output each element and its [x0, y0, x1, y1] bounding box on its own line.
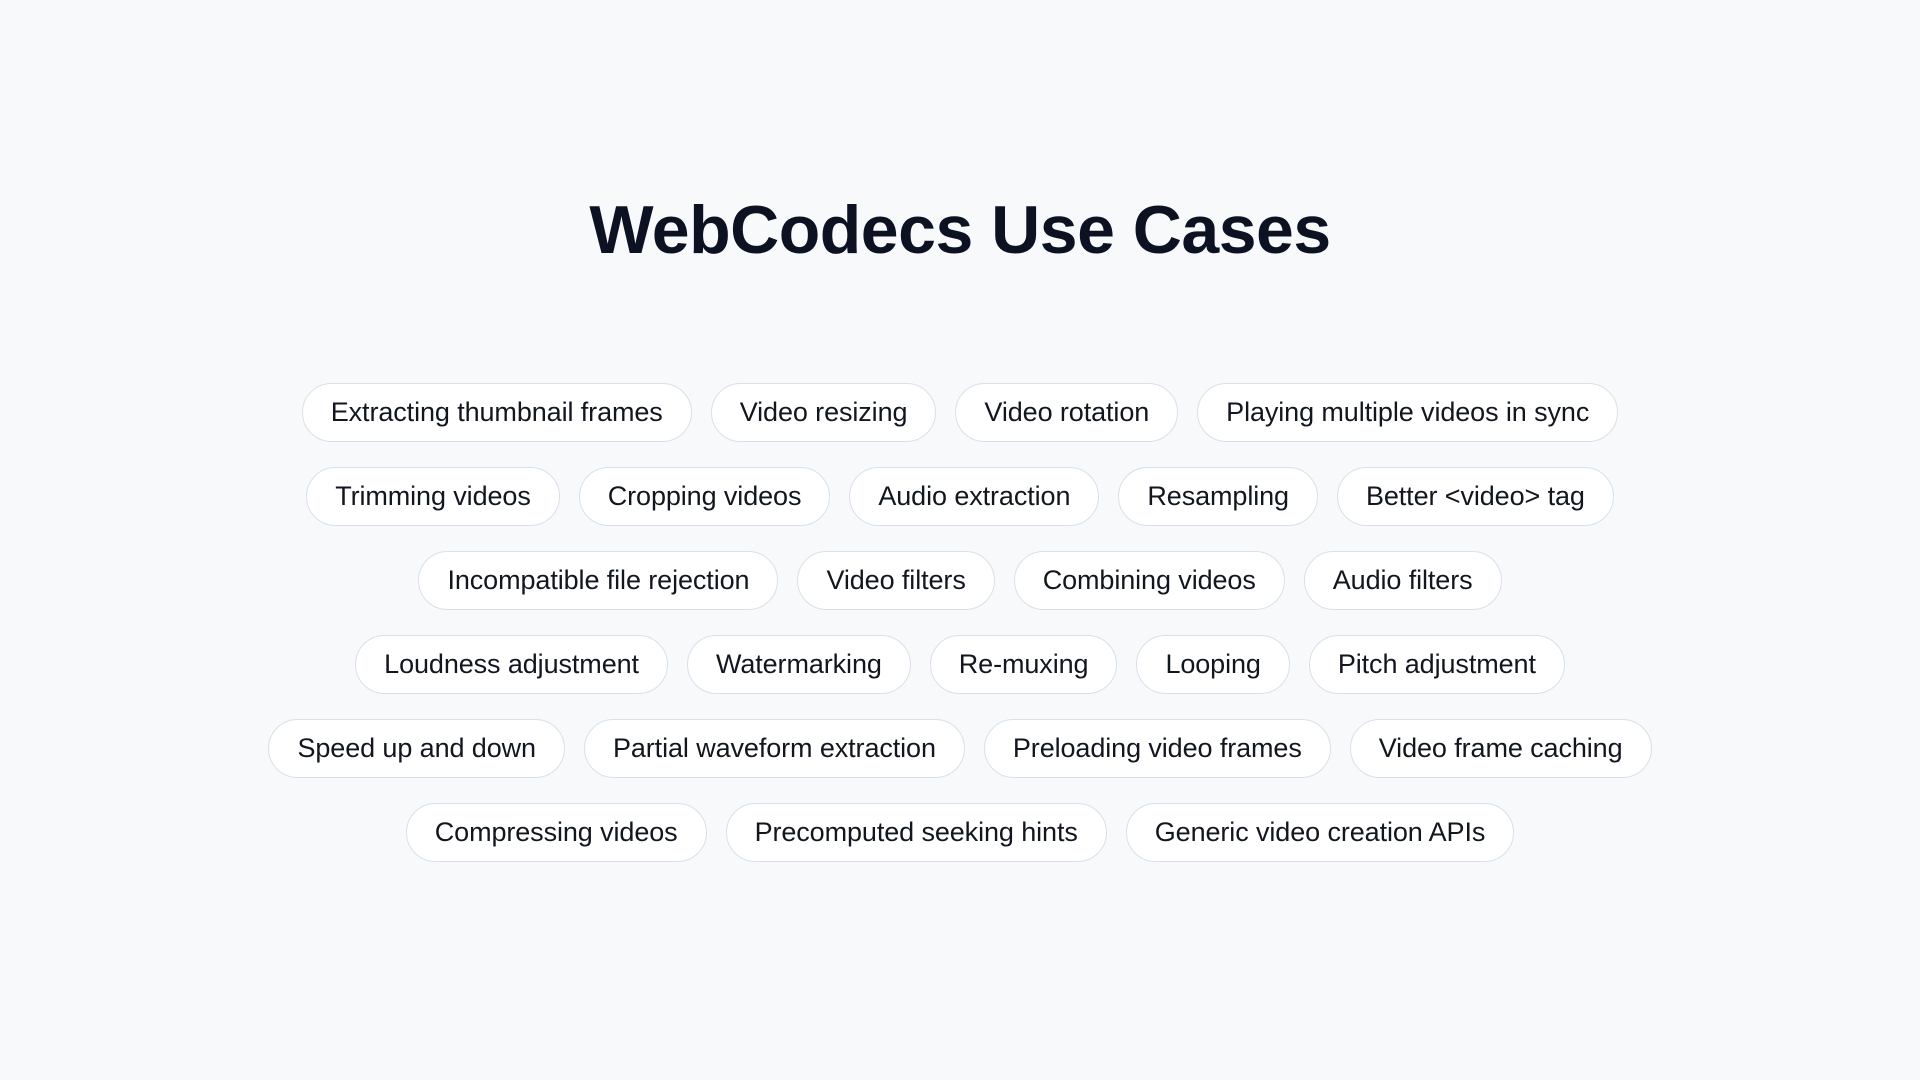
tag-pill[interactable]: Video filters: [797, 551, 994, 610]
tag-pill[interactable]: Generic video creation APIs: [1126, 803, 1514, 862]
page-root: WebCodecs Use Cases Extracting thumbnail…: [0, 0, 1920, 1080]
tag-pill[interactable]: Loudness adjustment: [355, 635, 668, 694]
tag-pill[interactable]: Incompatible file rejection: [418, 551, 778, 610]
tag-pill[interactable]: Resampling: [1118, 467, 1318, 526]
tag-pill[interactable]: Extracting thumbnail frames: [302, 383, 692, 442]
tag-row: Loudness adjustment Watermarking Re-muxi…: [355, 622, 1565, 706]
tag-pill[interactable]: Trimming videos: [306, 467, 560, 526]
tag-row: Compressing videos Precomputed seeking h…: [406, 790, 1515, 874]
tag-pill[interactable]: Preloading video frames: [984, 719, 1331, 778]
tag-pill[interactable]: Audio extraction: [849, 467, 1099, 526]
tag-pill[interactable]: Video frame caching: [1350, 719, 1652, 778]
page-title: WebCodecs Use Cases: [589, 196, 1330, 264]
tag-pill[interactable]: Pitch adjustment: [1309, 635, 1565, 694]
tag-pill[interactable]: Looping: [1136, 635, 1289, 694]
tag-row: Extracting thumbnail frames Video resizi…: [302, 370, 1618, 454]
tag-pill[interactable]: Combining videos: [1014, 551, 1285, 610]
tag-pill[interactable]: Watermarking: [687, 635, 911, 694]
tag-pill[interactable]: Audio filters: [1304, 551, 1502, 610]
tag-pill[interactable]: Compressing videos: [406, 803, 707, 862]
tag-pill[interactable]: Speed up and down: [268, 719, 565, 778]
tag-cloud: Extracting thumbnail frames Video resizi…: [130, 370, 1790, 874]
tag-row: Trimming videos Cropping videos Audio ex…: [306, 454, 1614, 538]
tag-pill[interactable]: Re-muxing: [930, 635, 1118, 694]
tag-pill[interactable]: Video rotation: [955, 383, 1178, 442]
tag-pill[interactable]: Partial waveform extraction: [584, 719, 965, 778]
tag-pill[interactable]: Precomputed seeking hints: [726, 803, 1107, 862]
tag-pill[interactable]: Better <video> tag: [1337, 467, 1614, 526]
tag-pill[interactable]: Playing multiple videos in sync: [1197, 383, 1618, 442]
tag-pill[interactable]: Cropping videos: [579, 467, 831, 526]
tag-row: Incompatible file rejection Video filter…: [418, 538, 1501, 622]
tag-pill[interactable]: Video resizing: [711, 383, 937, 442]
tag-row: Speed up and down Partial waveform extra…: [268, 706, 1651, 790]
